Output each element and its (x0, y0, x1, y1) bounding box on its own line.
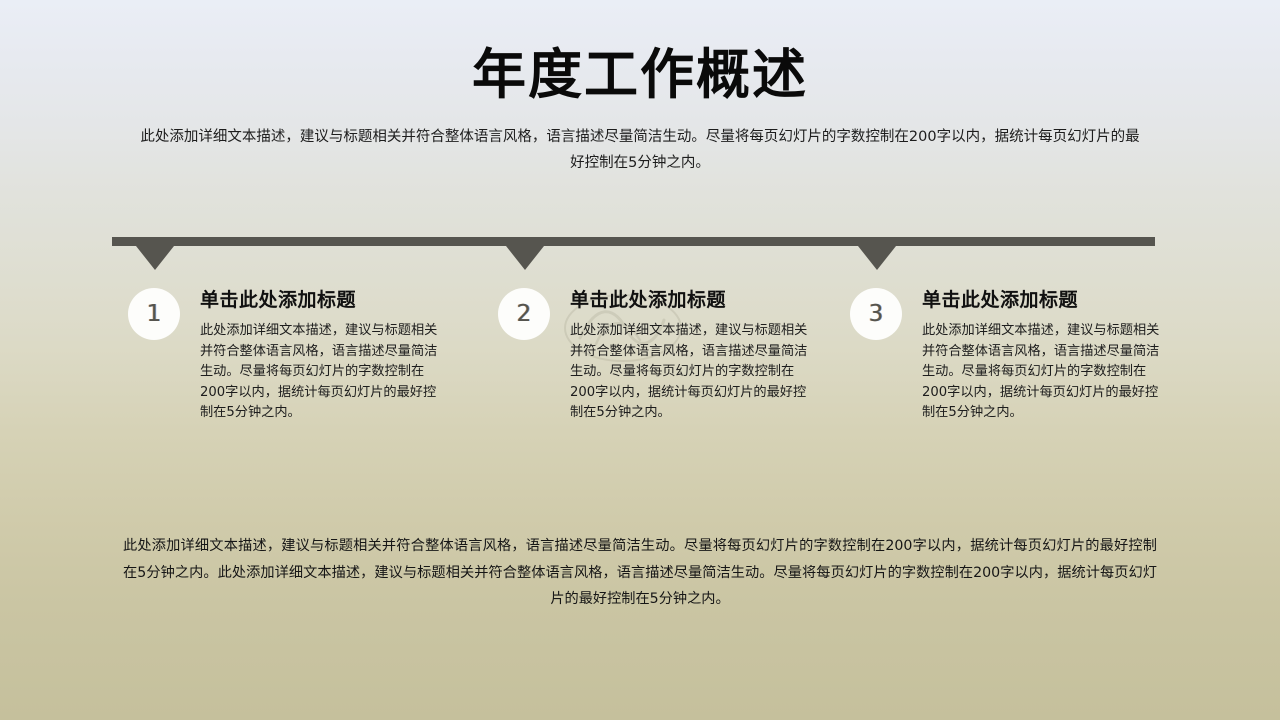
step-badge-1: 1 (128, 288, 180, 340)
column-text-3: 此处添加详细文本描述，建议与标题相关并符合整体语言风格，语言描述尽量简洁生动。尽… (922, 321, 1170, 424)
arrow-down-icon-1 (136, 246, 174, 270)
footer-paragraph: 此处添加详细文本描述，建议与标题相关并符合整体语言风格，语言描述尽量简洁生动。尽… (123, 533, 1157, 613)
slide-title: 年度工作概述 (0, 44, 1280, 106)
column-text-2: 此处添加详细文本描述，建议与标题相关并符合整体语言风格，语言描述尽量简洁生动。尽… (570, 321, 818, 424)
step-badge-2: 2 (498, 288, 550, 340)
presentation-slide: 年度工作概述 此处添加详细文本描述，建议与标题相关并符合整体语言风格，语言描述尽… (0, 0, 1280, 720)
arrow-down-icon-3 (858, 246, 896, 270)
slide-subtitle: 此处添加详细文本描述，建议与标题相关并符合整体语言风格，语言描述尽量简洁生动。尽… (140, 124, 1140, 176)
column-body-1: 单击此处添加标题 此处添加详细文本描述，建议与标题相关并符合整体语言风格，语言描… (200, 288, 448, 424)
column-body-2: 单击此处添加标题 此处添加详细文本描述，建议与标题相关并符合整体语言风格，语言描… (570, 288, 818, 424)
column-body-3: 单击此处添加标题 此处添加详细文本描述，建议与标题相关并符合整体语言风格，语言描… (922, 288, 1170, 424)
divider-bar (112, 237, 1155, 246)
column-heading-2[interactable]: 单击此处添加标题 (570, 288, 818, 312)
column-heading-3[interactable]: 单击此处添加标题 (922, 288, 1170, 312)
arrow-down-icon-2 (506, 246, 544, 270)
column-text-1: 此处添加详细文本描述，建议与标题相关并符合整体语言风格，语言描述尽量简洁生动。尽… (200, 321, 448, 424)
column-heading-1[interactable]: 单击此处添加标题 (200, 288, 448, 312)
step-badge-3: 3 (850, 288, 902, 340)
